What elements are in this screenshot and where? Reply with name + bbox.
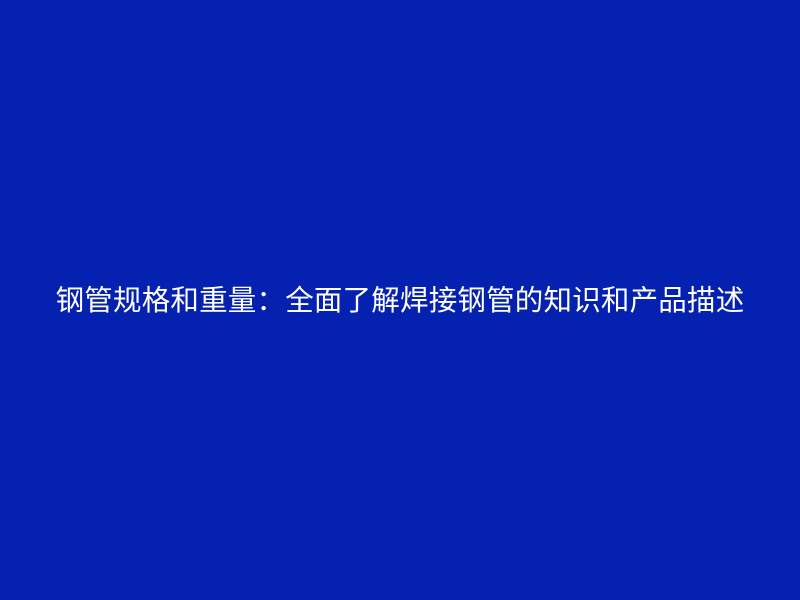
title-block: 钢管规格和重量：全面了解焊接钢管的知识和产品描述: [50, 275, 750, 326]
page-title: 钢管规格和重量：全面了解焊接钢管的知识和产品描述: [55, 275, 745, 326]
title-slide: 钢管规格和重量：全面了解焊接钢管的知识和产品描述: [0, 0, 800, 600]
